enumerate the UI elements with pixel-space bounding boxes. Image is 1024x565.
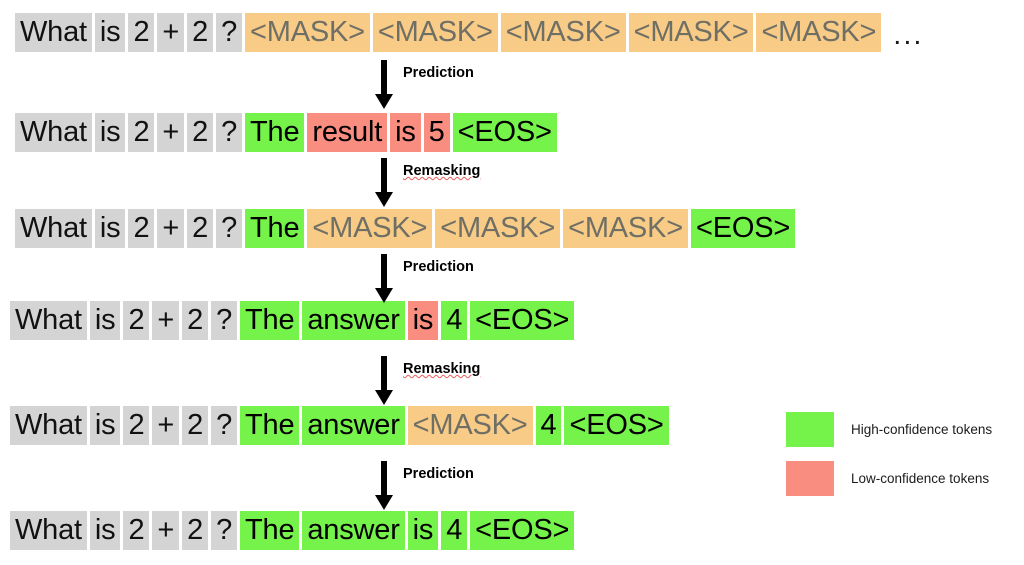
token-prompt: +: [152, 511, 179, 550]
token-prompt: +: [152, 406, 179, 445]
token-mask: <MASK>: [373, 13, 498, 52]
row-5-second-remasking: Whatis2+2?Theanswer<MASK>4<EOS>: [10, 406, 672, 445]
token-prompt: +: [157, 209, 184, 248]
row-4-second-prediction: Whatis2+2?Theansweris4<EOS>: [10, 301, 577, 340]
token-mask: <MASK>: [756, 13, 881, 52]
legend: High-confidence tokensLow-confidence tok…: [786, 412, 992, 510]
legend-label: High-confidence tokens: [851, 422, 992, 437]
arrow-head-icon: [375, 192, 393, 207]
token-prompt: 2: [182, 511, 208, 550]
arrow-head-icon: [375, 390, 393, 405]
token-low: result: [307, 113, 387, 152]
token-prompt: 2: [123, 511, 149, 550]
legend-color-swatch: [786, 412, 834, 447]
token-prompt: What: [10, 406, 87, 445]
legend-label: Low-confidence tokens: [851, 471, 989, 486]
token-low: is: [390, 113, 421, 152]
token-mask: <MASK>: [245, 13, 370, 52]
arrow-label: Remasking: [403, 361, 480, 377]
arrow-down-icon: [381, 356, 387, 392]
arrow-label: Prediction: [403, 259, 474, 275]
token-prompt: 2: [128, 113, 154, 152]
token-prompt: is: [90, 406, 121, 445]
token-prompt: 2: [187, 13, 213, 52]
token-prompt: ?: [216, 209, 242, 248]
token-high: The: [240, 301, 299, 340]
row-3-first-remasking: Whatis2+2?The<MASK><MASK><MASK><EOS>: [15, 209, 798, 248]
legend-color-swatch: [786, 461, 834, 496]
token-mask: <MASK>: [629, 13, 754, 52]
token-high: 4: [441, 511, 467, 550]
legend-low-confidence: Low-confidence tokens: [786, 461, 992, 496]
token-prompt: is: [90, 301, 121, 340]
arrow-label: Remasking: [403, 163, 480, 179]
token-mask: <MASK>: [307, 209, 432, 248]
token-prompt: is: [90, 511, 121, 550]
row-1-initial-masked: Whatis2+2?<MASK><MASK><MASK><MASK><MASK>…: [15, 13, 923, 56]
token-high: answer: [302, 511, 404, 550]
row-6-final-prediction: Whatis2+2?Theansweris4<EOS>: [10, 511, 577, 550]
token-high: The: [245, 209, 304, 248]
arrow-head-icon: [375, 495, 393, 510]
diagram-canvas: Whatis2+2?<MASK><MASK><MASK><MASK><MASK>…: [0, 0, 1024, 565]
token-low: 5: [424, 113, 450, 152]
token-prompt: What: [15, 13, 92, 52]
token-prompt: +: [157, 13, 184, 52]
token-high: answer: [302, 301, 404, 340]
token-prompt: is: [95, 113, 126, 152]
token-prompt: 2: [128, 209, 154, 248]
token-prompt: 2: [182, 301, 208, 340]
token-mask: <MASK>: [435, 209, 560, 248]
arrow-label: Prediction: [403, 65, 474, 81]
token-mask: <MASK>: [408, 406, 533, 445]
token-high: <EOS>: [470, 301, 574, 340]
token-prompt: 2: [187, 209, 213, 248]
row-2-first-prediction: Whatis2+2?Theresultis5<EOS>: [15, 113, 560, 152]
token-prompt: 2: [182, 406, 208, 445]
token-prompt: 2: [123, 301, 149, 340]
token-high: <EOS>: [453, 113, 557, 152]
arrow-label: Prediction: [403, 466, 474, 482]
token-prompt: +: [152, 301, 179, 340]
token-high: 4: [441, 301, 467, 340]
arrow-head-icon: [375, 288, 393, 303]
token-prompt: 2: [187, 113, 213, 152]
token-high: <EOS>: [470, 511, 574, 550]
token-prompt: 2: [128, 13, 154, 52]
token-prompt: ?: [211, 406, 237, 445]
token-prompt: +: [157, 113, 184, 152]
token-high: <EOS>: [564, 406, 668, 445]
token-mask: <MASK>: [501, 13, 626, 52]
token-high: is: [408, 511, 439, 550]
token-prompt: What: [15, 113, 92, 152]
token-prompt: ?: [216, 113, 242, 152]
token-prompt: ?: [211, 511, 237, 550]
arrow-head-icon: [375, 94, 393, 109]
token-mask: <MASK>: [563, 209, 688, 248]
token-high: The: [240, 406, 299, 445]
token-high: answer: [302, 406, 404, 445]
token-prompt: What: [10, 511, 87, 550]
token-prompt: ?: [211, 301, 237, 340]
arrow-down-icon: [381, 158, 387, 194]
legend-high-confidence: High-confidence tokens: [786, 412, 992, 447]
arrow-down-icon: [381, 254, 387, 290]
token-prompt: is: [95, 13, 126, 52]
token-prompt: What: [10, 301, 87, 340]
arrow-down-icon: [381, 60, 387, 96]
row-ellipsis: ...: [893, 13, 923, 56]
token-prompt: What: [15, 209, 92, 248]
arrow-down-icon: [381, 461, 387, 497]
token-prompt: 2: [123, 406, 149, 445]
token-prompt: is: [95, 209, 126, 248]
token-high: 4: [536, 406, 562, 445]
token-high: The: [245, 113, 304, 152]
token-prompt: ?: [216, 13, 242, 52]
token-high: The: [240, 511, 299, 550]
token-low: is: [408, 301, 439, 340]
token-high: <EOS>: [691, 209, 795, 248]
